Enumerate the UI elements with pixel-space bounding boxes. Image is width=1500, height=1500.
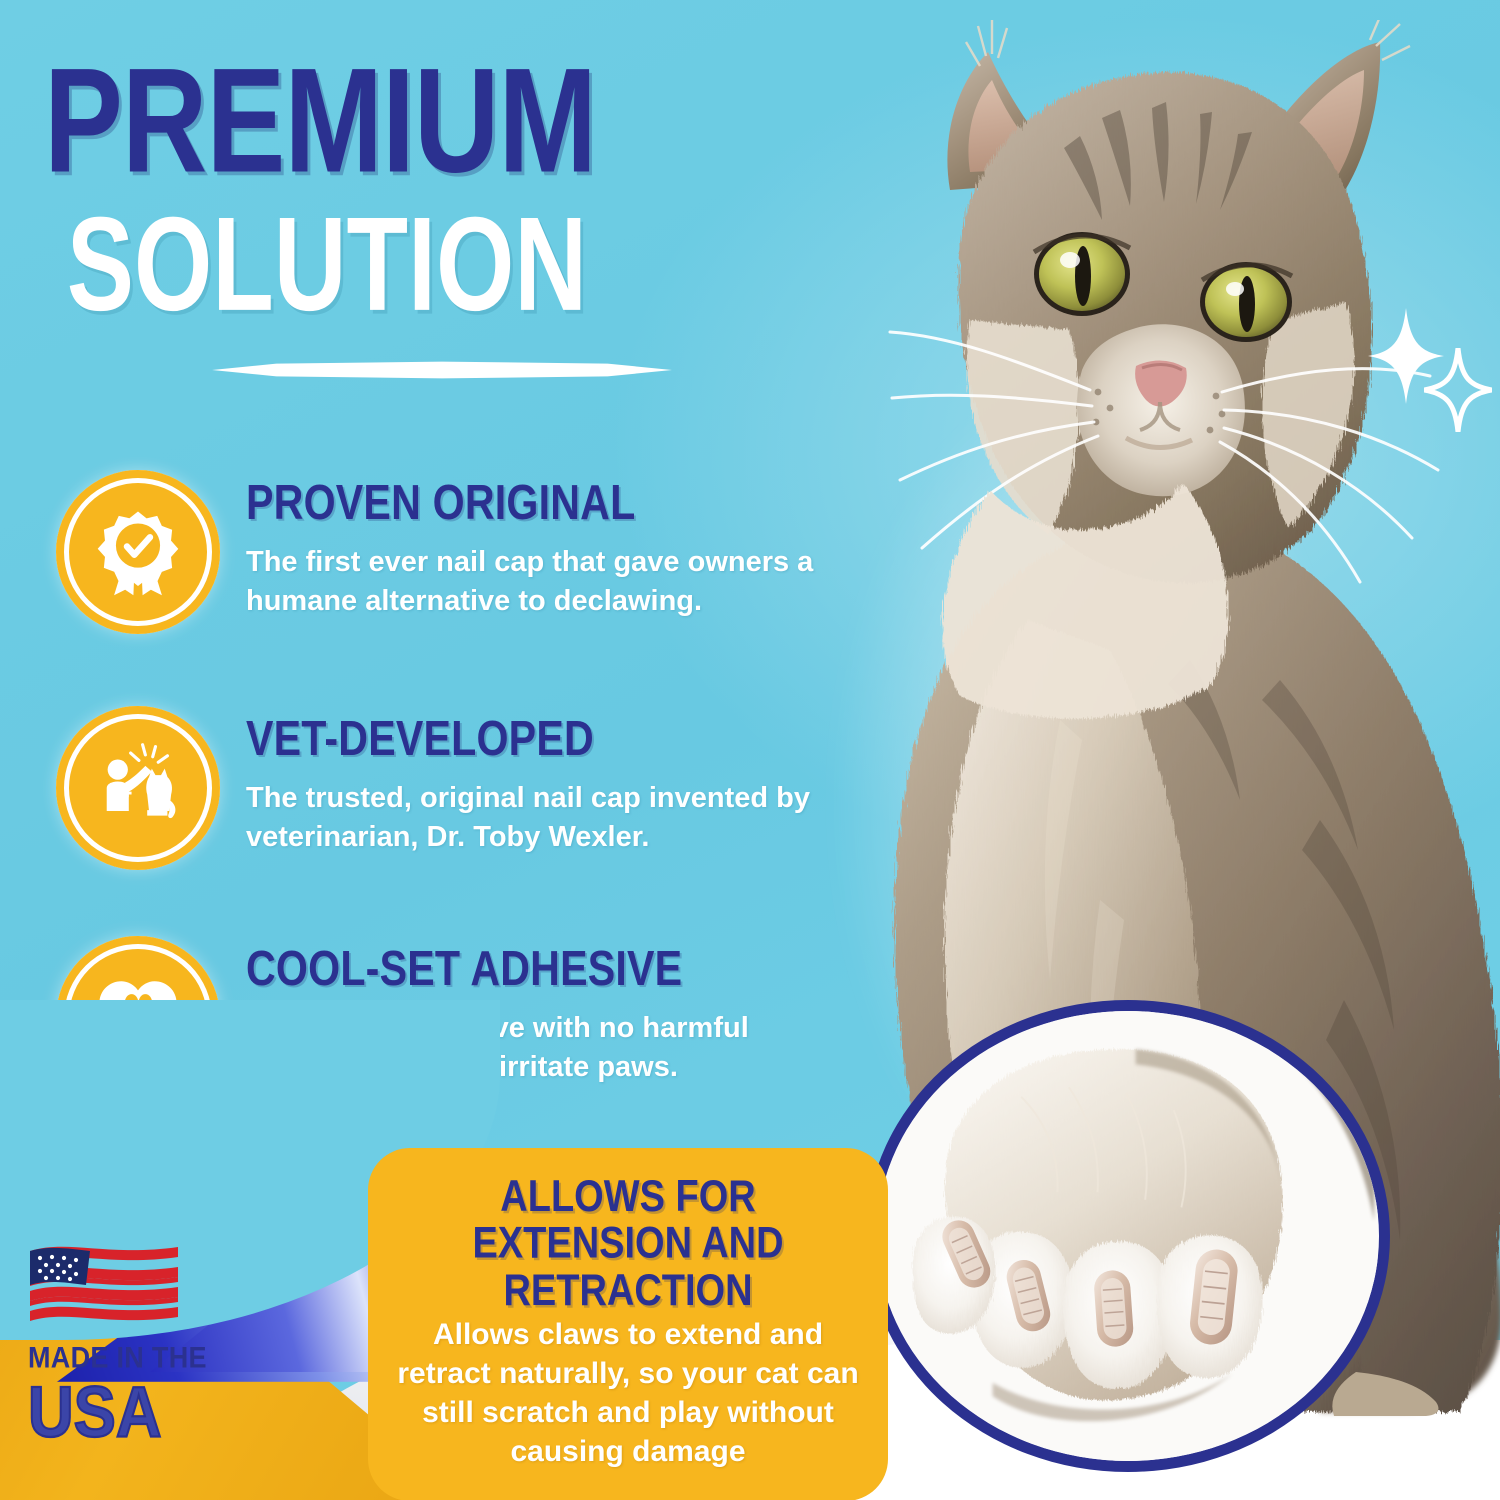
made-in-usa-badge: MADE IN THE USA [28,1235,248,1438]
page-title: PREMIUM SOLUTION [44,52,864,302]
made-in-usa-line-1: MADE IN THE [28,1341,248,1375]
sparkle-star-outline-icon [1424,348,1492,432]
veterinarian-high-five-cat-icon [56,706,220,870]
extension-retraction-callout: ALLOWS FOR EXTENSION AND RETRACTION Allo… [368,1148,888,1500]
feature-vet-developed: VET-DEVELOPED The trusted, original nail… [56,706,866,870]
award-ribbon-check-icon [56,470,220,634]
callout-title: ALLOWS FOR EXTENSION AND RETRACTION [394,1174,862,1314]
paw-closeup-inset [866,1000,1390,1472]
usa-flag-icon [28,1235,180,1327]
product-infographic: PREMIUM SOLUTION PROVEN ORIGINAL The fir… [0,0,1500,1500]
headline-line-2: SOLUTION [44,204,823,327]
headline-line-1: PREMIUM [44,52,839,189]
callout-body: Allows claws to extend and retract natur… [394,1315,862,1471]
made-in-usa-line-2: USA [28,1380,252,1447]
feature-proven-original: PROVEN ORIGINAL The first ever nail cap … [56,470,866,634]
